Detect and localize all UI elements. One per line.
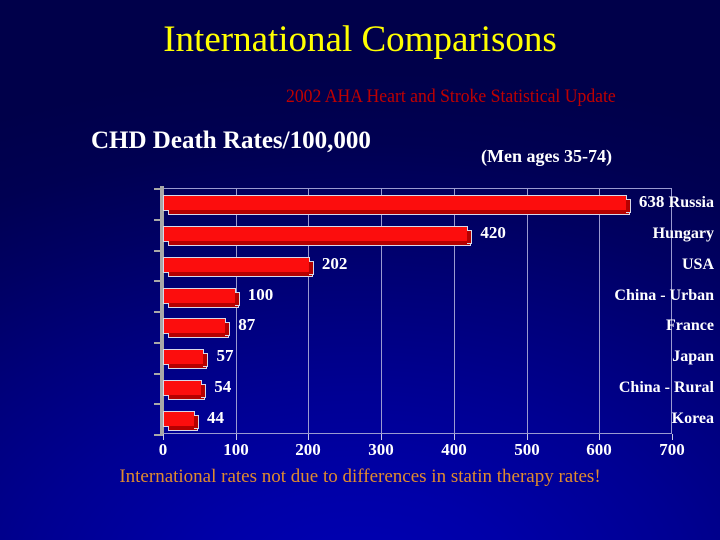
y-tick [154, 280, 161, 282]
bar [163, 318, 226, 334]
y-category-label: USA [560, 256, 720, 274]
gridline [454, 188, 455, 434]
y-tick [154, 188, 161, 190]
bar-value-label: 57 [216, 346, 233, 366]
y-tick [154, 219, 161, 221]
y-category-label: Hungary [560, 225, 720, 243]
x-tick-label: 700 [642, 440, 702, 460]
y-tick [154, 434, 161, 436]
bar-value-label: 420 [480, 223, 506, 243]
y-category-label: China - Rural [560, 379, 720, 397]
bar-value-label: 638 [639, 192, 665, 212]
bar-value-label: 44 [207, 408, 224, 428]
gridline [236, 188, 237, 434]
bar-value-label: 202 [322, 254, 348, 274]
y-category-label: Korea [560, 410, 720, 428]
bar [163, 349, 204, 365]
x-tick-label: 300 [351, 440, 411, 460]
x-tick-label: 400 [424, 440, 484, 460]
y-tick [154, 342, 161, 344]
bar [163, 195, 627, 211]
x-tick-label: 600 [569, 440, 629, 460]
y-category-label: China - Urban [560, 287, 720, 305]
gridline [308, 188, 309, 434]
gridline [381, 188, 382, 434]
footnote: International rates not due to differenc… [0, 465, 720, 489]
bar-value-label: 54 [214, 377, 231, 397]
bar-value-label: 100 [248, 285, 274, 305]
y-category-label: Japan [560, 348, 720, 366]
x-tick-label: 500 [497, 440, 557, 460]
y-tick [154, 403, 161, 405]
x-tick-label: 0 [133, 440, 193, 460]
y-tick [154, 373, 161, 375]
gridline [527, 188, 528, 434]
bar-chart: 0100200300400500600700 RussiaHungaryUSAC… [0, 0, 720, 540]
slide: International Comparisons 2002 AHA Heart… [0, 0, 720, 540]
bar-value-label: 87 [238, 315, 255, 335]
y-tick [154, 250, 161, 252]
x-tick-label: 100 [206, 440, 266, 460]
bar [163, 380, 202, 396]
y-category-label: France [560, 317, 720, 335]
bar [163, 257, 310, 273]
bar [163, 226, 468, 242]
bar [163, 288, 236, 304]
bar [163, 411, 195, 427]
x-tick-label: 200 [278, 440, 338, 460]
y-tick [154, 311, 161, 313]
